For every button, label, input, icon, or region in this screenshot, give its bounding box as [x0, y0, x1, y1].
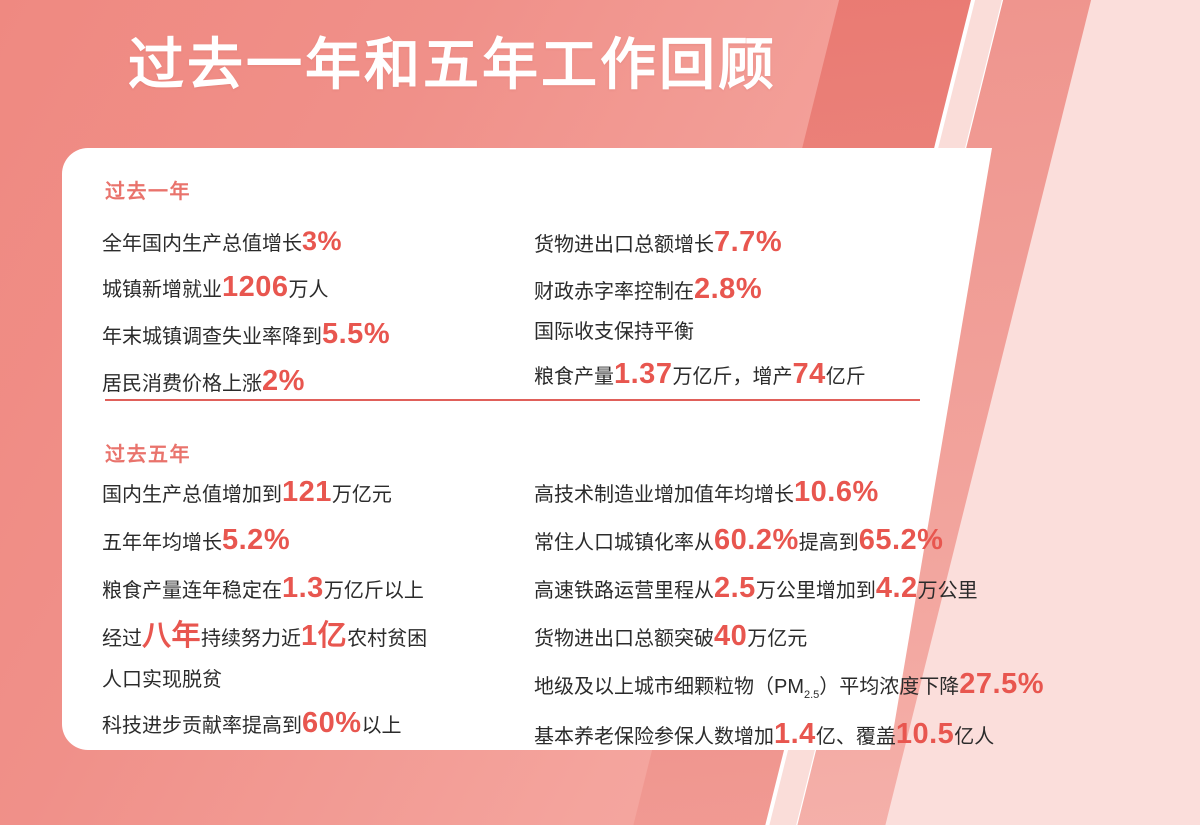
stat-line: 国内生产总值增加到121万亿元 [102, 478, 427, 507]
stat-label-post: 万公里 [918, 580, 978, 602]
stat-line: 全年国内生产总值增长3% [102, 228, 390, 255]
pm25-subscript: 2.5 [804, 689, 819, 701]
stat-label-post: 万亿元 [332, 484, 392, 506]
stat-label-post: 万人 [289, 279, 329, 301]
stat-line: 地级及以上城市细颗粒物（PM2.5）平均浓度下降27.5% [534, 670, 1044, 701]
stat-list-past-year-left: 全年国内生产总值增长3%城镇新增就业1206万人年末城镇调查失业率降到5.5%居… [102, 228, 390, 414]
stat-label-post: 万亿元 [747, 628, 807, 650]
stat-label: 五年年均增长 [102, 532, 222, 554]
stat-line: 货物进出口总额增长7.7% [534, 228, 866, 257]
section-heading-past-year: 过去一年 [105, 175, 191, 204]
stat-line: 货物进出口总额突破40万亿元 [534, 622, 1044, 651]
stat-label: 常住人口城镇化率从 [534, 532, 714, 554]
stat-label: 高技术制造业增加值年均增长 [534, 484, 794, 506]
stat-value: 10.5 [896, 718, 954, 750]
stat-label-post: 亿斤 [826, 366, 866, 388]
stat-label: 经过 [102, 628, 142, 650]
poster-root: 过去一年和五年工作回顾 过去一年 过去五年 全年国内生产总值增长3%城镇新增就业… [0, 0, 1200, 825]
stat-value: 1.4 [774, 718, 816, 750]
stat-label-mid: 持续努力近 [201, 628, 301, 650]
stat-value: 60.2% [714, 524, 799, 556]
stat-value: 1亿 [301, 620, 347, 652]
stat-list-past-year-right: 货物进出口总额增长7.7%财政赤字率控制在2.8%国际收支保持平衡粮食产量1.3… [534, 228, 866, 407]
stat-list-five-years-right: 高技术制造业增加值年均增长10.6%常住人口城镇化率从60.2%提高到65.2%… [534, 478, 1044, 768]
stat-label: 地级及以上城市细颗粒物（PM2.5）平均浓度下降 [534, 676, 959, 698]
stat-value: 3% [302, 226, 342, 256]
stat-line: 经过八年持续努力近1亿农村贫困 [102, 622, 427, 651]
stat-value: 5.5% [322, 318, 390, 350]
stat-line: 高速铁路运营里程从2.5万公里增加到4.2万公里 [534, 574, 1044, 603]
stat-value: 65.2% [859, 524, 944, 556]
stat-value: 1206 [222, 271, 289, 303]
stat-value: 4.2 [876, 572, 918, 604]
stat-line: 城镇新增就业1206万人 [102, 273, 390, 302]
stat-list-five-years-left: 国内生产总值增加到121万亿元五年年均增长5.2%粮食产量连年稳定在1.3万亿斤… [102, 478, 427, 757]
stat-label-post: 农村贫困 [347, 628, 427, 650]
stat-label: 粮食产量连年稳定在 [102, 580, 282, 602]
stat-line: 财政赤字率控制在2.8% [534, 275, 866, 304]
stat-line: 人口实现脱贫 [102, 670, 427, 690]
stat-line: 常住人口城镇化率从60.2%提高到65.2% [534, 526, 1044, 555]
stat-label-mid: 万公里增加到 [756, 580, 876, 602]
stat-label: 货物进出口总额增长 [534, 234, 714, 256]
stat-label-mid: 万亿斤，增产 [672, 366, 792, 388]
stat-value: 5.2% [222, 524, 290, 556]
stat-line: 粮食产量1.37万亿斤，增产74亿斤 [534, 360, 866, 389]
stat-line: 科技进步贡献率提高到60%以上 [102, 709, 427, 738]
stat-label: 全年国内生产总值增长 [102, 233, 302, 255]
stat-label: 粮食产量 [534, 366, 614, 388]
stat-label-post: 以上 [362, 715, 402, 737]
stat-value: 10.6% [794, 476, 879, 508]
stat-label: 人口实现脱贫 [102, 669, 222, 691]
stat-value: 1.3 [282, 572, 324, 604]
stat-value: 八年 [142, 620, 201, 652]
stat-label: 国内生产总值增加到 [102, 484, 282, 506]
stat-label-post: 亿人 [954, 726, 994, 748]
stat-line: 基本养老保险参保人数增加1.4亿、覆盖10.5亿人 [534, 720, 1044, 749]
stat-label: 国际收支保持平衡 [534, 321, 694, 343]
stat-line: 粮食产量连年稳定在1.3万亿斤以上 [102, 574, 427, 603]
section-heading-past-five-years: 过去五年 [105, 438, 191, 467]
stat-value: 74 [792, 358, 825, 390]
stat-line: 年末城镇调查失业率降到5.5% [102, 320, 390, 349]
stat-line: 国际收支保持平衡 [534, 322, 866, 342]
page-title: 过去一年和五年工作回顾 [128, 33, 777, 97]
stat-line: 高技术制造业增加值年均增长10.6% [534, 478, 1044, 507]
stat-label: 居民消费价格上涨 [102, 373, 262, 395]
stat-value: 27.5% [959, 668, 1044, 700]
stat-line: 居民消费价格上涨2% [102, 367, 390, 396]
stat-value: 121 [282, 476, 332, 508]
stat-label: 货物进出口总额突破 [534, 628, 714, 650]
stat-value: 1.37 [614, 358, 672, 390]
stat-line: 五年年均增长5.2% [102, 526, 427, 555]
stat-value: 2% [262, 365, 305, 397]
stat-label: 财政赤字率控制在 [534, 281, 694, 303]
stat-label-mid: 亿、覆盖 [816, 726, 896, 748]
stat-label: 年末城镇调查失业率降到 [102, 326, 322, 348]
stat-value: 2.8% [694, 273, 762, 305]
stat-value: 60% [302, 707, 362, 739]
stat-label-post: 万亿斤以上 [324, 580, 424, 602]
stat-label: 城镇新增就业 [102, 279, 222, 301]
stat-value: 40 [714, 620, 747, 652]
stat-label: 高速铁路运营里程从 [534, 580, 714, 602]
stat-value: 2.5 [714, 572, 756, 604]
stat-label-mid: 提高到 [799, 532, 859, 554]
stat-label: 基本养老保险参保人数增加 [534, 726, 774, 748]
stat-label: 科技进步贡献率提高到 [102, 715, 302, 737]
stat-value: 7.7% [714, 226, 782, 258]
